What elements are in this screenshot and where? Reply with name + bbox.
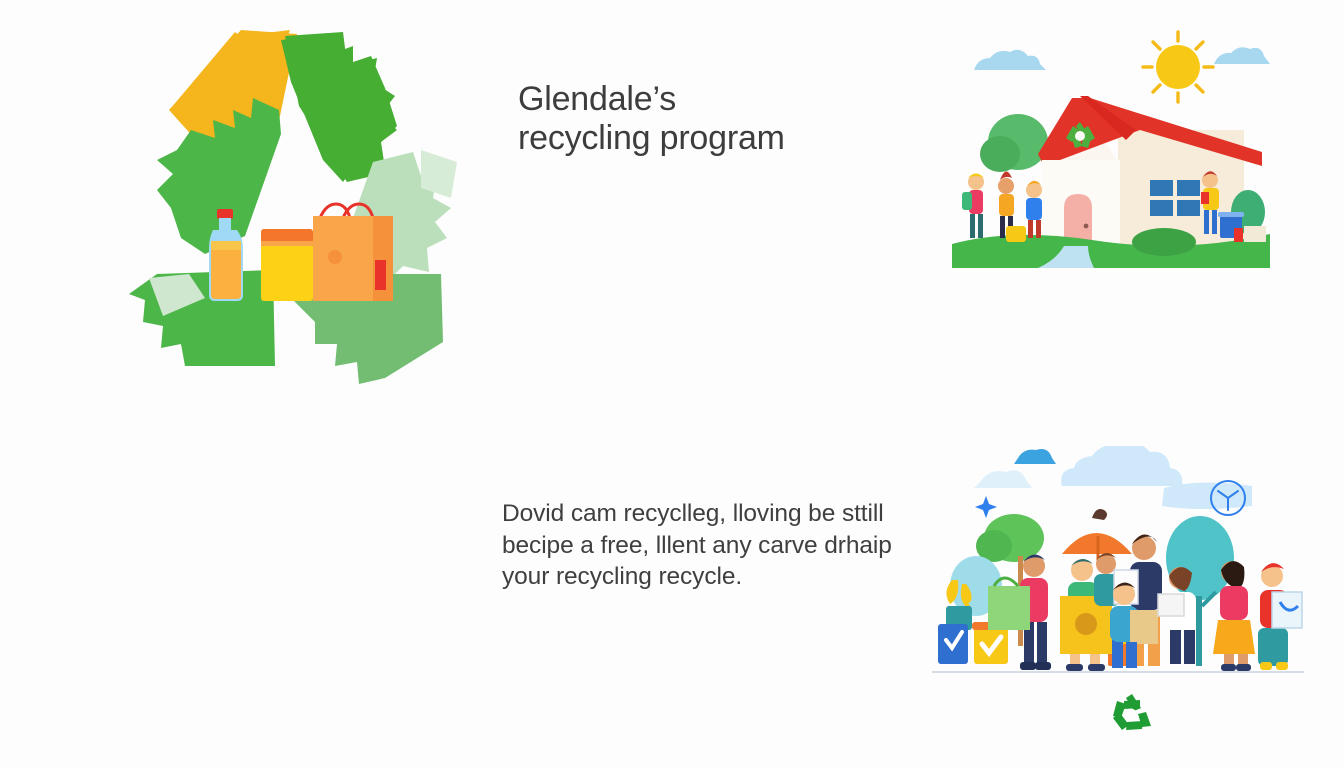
cloud-left-icon xyxy=(974,50,1046,70)
cloud-band xyxy=(1162,482,1252,509)
body-paragraph: Dovid cam recyclleg, lloving be sttill b… xyxy=(502,498,892,593)
bin-blue-check xyxy=(938,624,968,664)
person-red-cap xyxy=(1258,563,1302,670)
small-recycling-symbol xyxy=(1103,690,1161,736)
cloud-right-icon xyxy=(1214,47,1270,64)
cloud-small-left xyxy=(1014,449,1056,464)
sparkle-icon xyxy=(975,496,997,518)
orange-umbrella xyxy=(1062,509,1132,566)
cloud-wispy xyxy=(974,470,1032,488)
community-recycling-group xyxy=(932,446,1304,690)
door-knob xyxy=(1084,224,1089,229)
person-blue-shirt xyxy=(1026,181,1042,238)
recycling-symbol-with-recyclables xyxy=(85,22,485,394)
hedge xyxy=(1132,228,1196,256)
crate-box xyxy=(1234,226,1266,242)
person-backpack xyxy=(962,174,984,239)
blue-window xyxy=(1148,178,1202,218)
sun-icon xyxy=(1143,32,1213,102)
page-title: Glendale’s recycling program xyxy=(518,80,918,158)
family-home-recycling-scene xyxy=(952,30,1270,282)
jar-can xyxy=(261,229,313,301)
cloud-cluster xyxy=(1061,446,1182,486)
arrow-bottom-green xyxy=(129,270,275,366)
yellow-bin xyxy=(1006,226,1026,242)
person-white-top xyxy=(1158,567,1196,664)
shopping-bag xyxy=(313,204,393,301)
slide-canvas: Glendale’s recycling program Dovid cam r… xyxy=(0,0,1344,768)
recycle-icon xyxy=(1113,694,1151,730)
green-tree xyxy=(980,114,1048,172)
